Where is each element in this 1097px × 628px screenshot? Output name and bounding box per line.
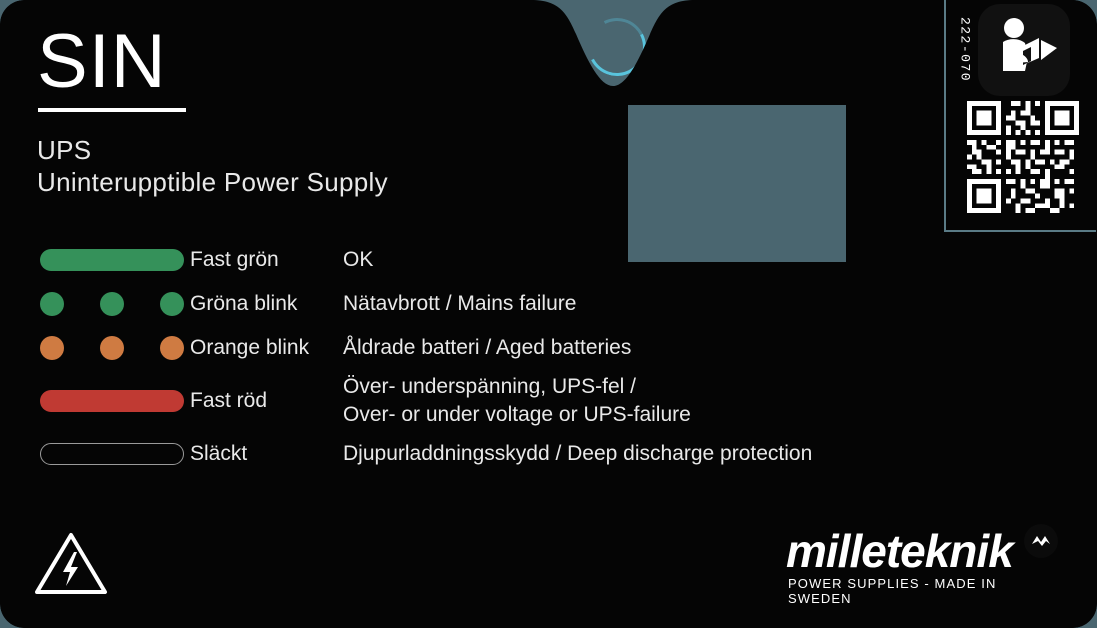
led-dot-green-3 [160, 292, 184, 316]
led-dot-group-green [40, 292, 184, 316]
led-legend: Fast grön OK Gröna blink Nätavbrott / Ma… [40, 238, 1050, 476]
led-dot-orange-2 [100, 336, 124, 360]
manufacturer-logo: milleteknik POWER SUPPLIES - MADE IN SWE… [786, 524, 1058, 596]
led-name: Släckt [190, 432, 247, 476]
led-dot-orange-3 [160, 336, 184, 360]
led-name: Orange blink [190, 326, 309, 370]
title-underline [38, 108, 186, 112]
led-indicator-solid-green [40, 238, 188, 282]
led-dot-group-orange [40, 336, 184, 360]
led-description-line: Over- or under voltage or UPS-failure [343, 401, 691, 429]
led-name: Fast röd [190, 370, 267, 432]
led-bar-off [40, 443, 184, 465]
led-description: Över- underspänning, UPS-fel / Over- or … [343, 370, 691, 432]
led-dot-green-2 [100, 292, 124, 316]
led-dot-orange-1 [40, 336, 64, 360]
subtitle-line-1: UPS [37, 134, 388, 166]
legend-row: Gröna blink Nätavbrott / Mains failure [40, 282, 1050, 326]
article-number: 222-070 [958, 11, 973, 89]
led-description-line: Åldrade batteri / Aged batteries [343, 334, 631, 362]
led-description-line: OK [343, 246, 373, 274]
led-description: Åldrade batteri / Aged batteries [343, 326, 631, 370]
logo-wordmark: milleteknik [786, 524, 1013, 578]
page-subtitle: UPS Uninterupptible Power Supply [37, 134, 388, 198]
page-title: SIN [37, 18, 167, 106]
led-bar-red [40, 390, 184, 412]
legend-row: Fast grön OK [40, 238, 1050, 282]
logo-tagline: POWER SUPPLIES - MADE IN SWEDEN [788, 576, 1058, 606]
led-name: Fast grön [190, 238, 279, 282]
high-voltage-warning-icon [33, 530, 109, 596]
led-name: Gröna blink [190, 282, 297, 326]
read-manual-icon [978, 4, 1070, 96]
led-indicator-blink-orange [40, 326, 188, 370]
led-indicator-blink-green [40, 282, 188, 326]
legend-row: Släckt Djupurladdningsskydd / Deep disch… [40, 432, 1050, 476]
led-description-line: Nätavbrott / Mains failure [343, 290, 576, 318]
led-description-line: Djupurladdningsskydd / Deep discharge pr… [343, 440, 812, 468]
led-description-line: Över- underspänning, UPS-fel / [343, 373, 691, 401]
subtitle-line-2: Uninterupptible Power Supply [37, 166, 388, 198]
led-description: Nätavbrott / Mains failure [343, 282, 576, 326]
qr-panel: 222-070 [944, 0, 1096, 232]
legend-row: Orange blink Åldrade batteri / Aged batt… [40, 326, 1050, 370]
qr-code [962, 96, 1084, 218]
led-indicator-off [40, 432, 188, 476]
lightning-bolt-icon [1024, 524, 1058, 558]
led-dot-green-1 [40, 292, 64, 316]
led-description: OK [343, 238, 373, 282]
device-label-panel: SIN UPS Uninterupptible Power Supply Fas… [0, 0, 1097, 628]
led-description: Djupurladdningsskydd / Deep discharge pr… [343, 432, 812, 476]
legend-row: Fast röd Över- underspänning, UPS-fel / … [40, 370, 1050, 432]
led-indicator-solid-red [40, 370, 188, 432]
led-bar-green [40, 249, 184, 271]
